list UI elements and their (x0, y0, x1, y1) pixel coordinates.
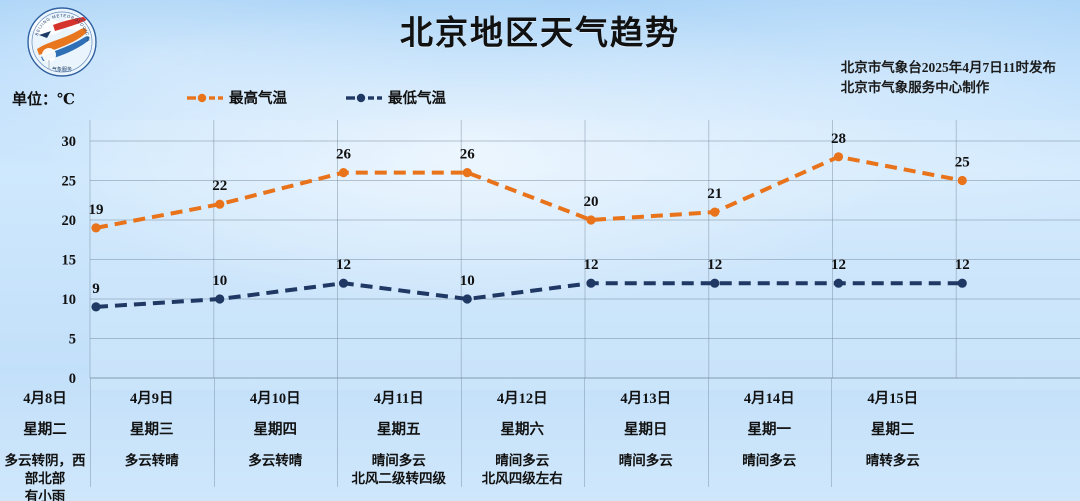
data-point-marker[interactable] (91, 302, 100, 311)
forecast-date: 4月15日 (867, 390, 918, 408)
data-point-marker[interactable] (834, 152, 843, 161)
legend-swatch-low-icon (345, 91, 383, 105)
forecast-day-table: 4月8日星期二多云转阴，西部北部 有小雨4月9日星期三多云转晴4月10日星期四多… (0, 378, 1080, 501)
forecast-weekday: 星期二 (23, 421, 67, 439)
forecast-date: 4月12日 (497, 390, 548, 408)
data-point-label: 19 (89, 202, 104, 218)
legend-label-high: 最高气温 (229, 87, 287, 108)
data-point-label: 28 (831, 131, 846, 147)
y-axis-tick-label: 15 (62, 253, 77, 269)
data-point-marker[interactable] (339, 168, 348, 177)
forecast-day-column: 4月11日星期五晴间多云 北风二级转四级 (337, 378, 461, 501)
forecast-weekday: 星期二 (871, 421, 915, 439)
y-axis-tick-label: 25 (62, 174, 77, 190)
legend-swatch-high-icon (186, 91, 224, 105)
legend-label-low: 最低气温 (388, 87, 446, 108)
unit-label: 单位：℃ (12, 88, 75, 109)
forecast-day-column: 4月13日星期日晴间多云 (584, 378, 708, 501)
data-point-marker[interactable] (215, 200, 224, 209)
forecast-weekday: 星期三 (130, 421, 174, 439)
legend-item-low[interactable]: 最低气温 (345, 87, 446, 108)
y-axis-tick-label: 30 (62, 134, 77, 150)
issue-line-2: 北京市气象服务中心制作 (841, 78, 1056, 98)
forecast-weekday: 星期五 (377, 421, 421, 439)
data-point-marker[interactable] (834, 279, 843, 288)
data-point-label: 12 (831, 257, 846, 273)
y-axis-tick-label: 20 (62, 213, 77, 229)
data-point-marker[interactable] (339, 279, 348, 288)
data-point-marker[interactable] (710, 208, 719, 217)
data-point-label: 21 (707, 186, 722, 202)
weather-trend-chart-card: BEIJING METEOROLOGICAL SERVICE 气象服务 北京地区… (0, 0, 1080, 501)
forecast-date: 4月8日 (23, 390, 67, 408)
data-point-marker[interactable] (710, 279, 719, 288)
issue-line-1: 北京市气象台2025年4月7日11时发布 (841, 58, 1056, 78)
data-point-label: 10 (460, 273, 475, 289)
svg-text:气象服务: 气象服务 (52, 66, 72, 73)
chart-legend: 最高气温 最低气温 (186, 87, 446, 108)
legend-item-high[interactable]: 最高气温 (186, 87, 287, 108)
forecast-day-column: 4月14日星期一晴间多云 (708, 378, 832, 501)
data-point-label: 26 (460, 147, 476, 163)
data-point-label: 12 (955, 257, 970, 273)
forecast-date: 4月9日 (130, 390, 174, 408)
data-point-label: 12 (707, 257, 722, 273)
forecast-description: 晴间多云 (742, 452, 796, 470)
forecast-date: 4月14日 (744, 390, 795, 408)
temperature-line-chart: 0510152025301922262620212825910121012121… (0, 120, 1080, 390)
data-point-marker[interactable] (958, 279, 967, 288)
forecast-day-column: 4月8日星期二多云转阴，西部北部 有小雨 (0, 378, 90, 501)
forecast-day-column: 4月9日星期三多云转晴 (90, 378, 214, 501)
data-point-label: 20 (584, 194, 599, 210)
data-point-marker[interactable] (958, 176, 967, 185)
forecast-weekday: 星期日 (624, 421, 668, 439)
forecast-day-column: 4月15日星期二晴转多云 (831, 378, 955, 501)
data-point-label: 12 (336, 257, 351, 273)
forecast-day-column: 4月10日星期四多云转晴 (214, 378, 338, 501)
forecast-description: 晴转多云 (866, 452, 920, 470)
data-point-marker[interactable] (91, 223, 100, 232)
forecast-description: 多云转晴 (248, 452, 302, 470)
forecast-description: 多云转阴，西部北部 有小雨 (0, 452, 90, 501)
forecast-date: 4月10日 (250, 390, 301, 408)
data-point-label: 25 (955, 155, 970, 171)
issue-info: 北京市气象台2025年4月7日11时发布 北京市气象服务中心制作 (841, 58, 1056, 98)
y-axis-tick-label: 5 (69, 332, 76, 348)
forecast-description: 多云转晴 (125, 452, 179, 470)
data-point-marker[interactable] (463, 168, 472, 177)
data-point-label: 22 (212, 178, 227, 194)
forecast-description: 晴间多云 北风四级左右 (482, 452, 563, 488)
forecast-day-column: 4月12日星期六晴间多云 北风四级左右 (461, 378, 585, 501)
forecast-weekday: 星期四 (254, 421, 298, 439)
forecast-description: 晴间多云 (619, 452, 673, 470)
forecast-date: 4月11日 (374, 390, 424, 408)
forecast-weekday: 星期六 (501, 421, 545, 439)
y-axis-tick-label: 10 (62, 292, 77, 308)
page-title: 北京地区天气趋势 (0, 6, 1080, 54)
data-point-marker[interactable] (586, 215, 595, 224)
data-point-label: 26 (336, 147, 352, 163)
forecast-weekday: 星期一 (748, 421, 792, 439)
forecast-date: 4月13日 (620, 390, 671, 408)
data-point-label: 9 (92, 281, 100, 297)
data-point-label: 10 (212, 273, 227, 289)
data-point-marker[interactable] (215, 294, 224, 303)
data-point-marker[interactable] (586, 279, 595, 288)
forecast-description: 晴间多云 北风二级转四级 (352, 452, 447, 488)
data-point-label: 12 (584, 257, 599, 273)
data-point-marker[interactable] (463, 294, 472, 303)
